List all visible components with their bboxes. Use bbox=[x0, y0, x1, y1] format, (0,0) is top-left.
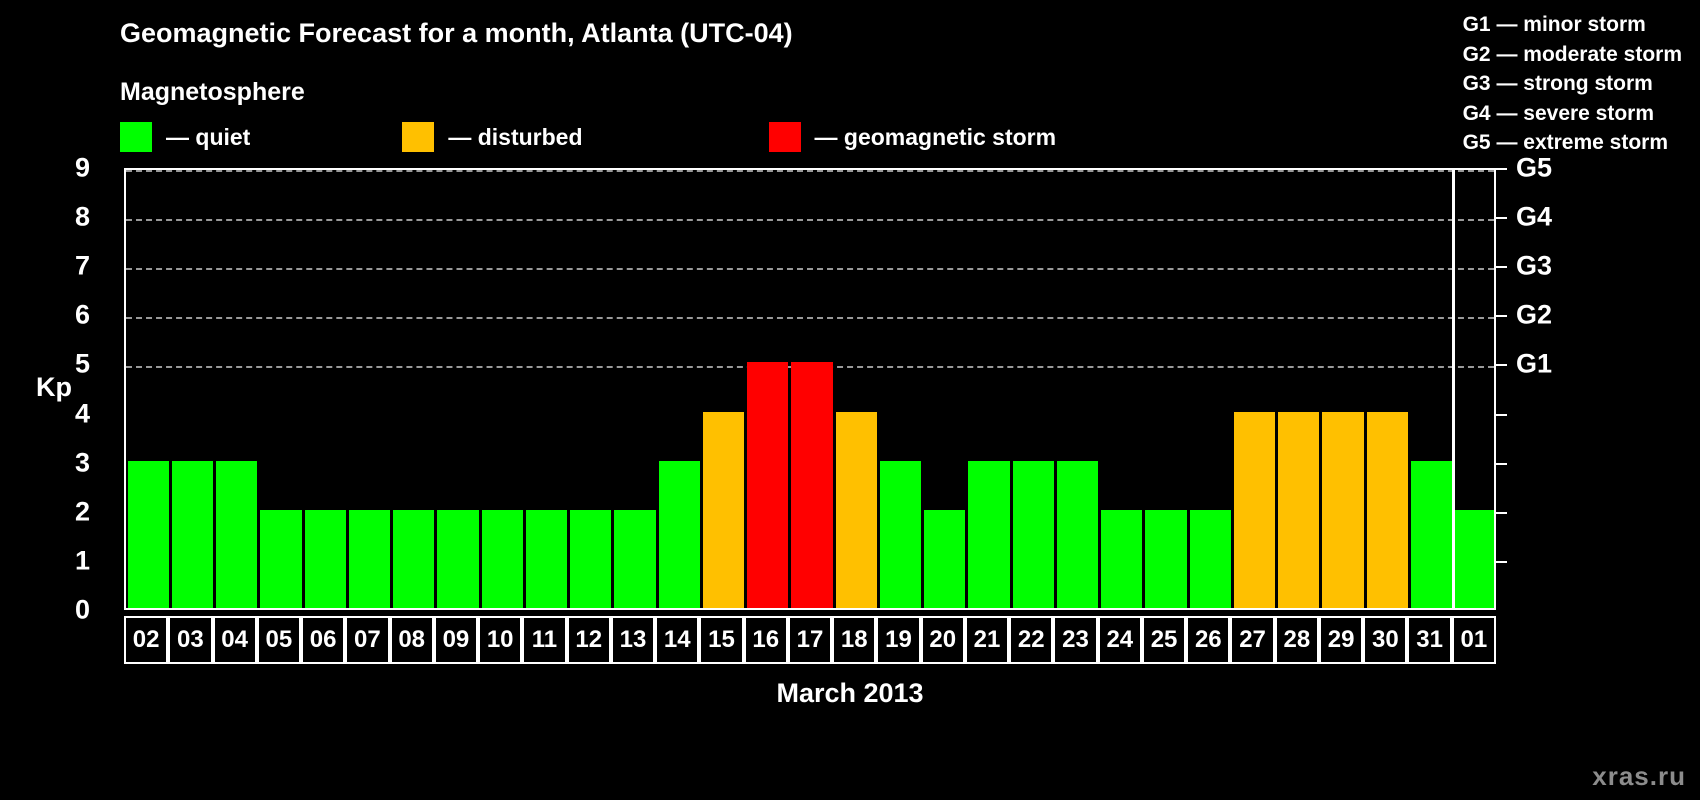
gscale-key-row: G2 — moderate storm bbox=[1463, 40, 1682, 70]
bar-24 bbox=[1101, 510, 1142, 608]
day-label-31: 31 bbox=[1407, 616, 1451, 664]
day-label-27: 27 bbox=[1230, 616, 1274, 664]
g-tick-mark bbox=[1496, 217, 1507, 219]
quiet-swatch bbox=[120, 122, 152, 152]
y-tick-label-0: 0 bbox=[50, 595, 90, 626]
g-tick-mark bbox=[1496, 266, 1507, 268]
page-title: Geomagnetic Forecast for a month, Atlant… bbox=[120, 18, 793, 49]
day-label-25: 25 bbox=[1142, 616, 1186, 664]
y-tick-label-1: 1 bbox=[50, 545, 90, 576]
y-tick-label-8: 8 bbox=[50, 202, 90, 233]
bar-08 bbox=[393, 510, 434, 608]
legend: — quiet— disturbed— geomagnetic storm bbox=[120, 122, 1056, 152]
g-tick-mark-minor bbox=[1496, 512, 1507, 514]
bar-16 bbox=[747, 362, 788, 608]
g-tick-label-G5: G5 bbox=[1516, 153, 1552, 184]
gscale-key: G1 — minor stormG2 — moderate stormG3 — … bbox=[1463, 10, 1682, 158]
y-tick-label-9: 9 bbox=[50, 153, 90, 184]
y-tick-label-6: 6 bbox=[50, 300, 90, 331]
watermark: xras.ru bbox=[1592, 761, 1686, 792]
day-label-22: 22 bbox=[1009, 616, 1053, 664]
gscale-key-row: G4 — severe storm bbox=[1463, 99, 1682, 129]
storm-swatch bbox=[769, 122, 801, 152]
bar-19 bbox=[880, 461, 921, 608]
day-label-26: 26 bbox=[1186, 616, 1230, 664]
day-label-10: 10 bbox=[478, 616, 522, 664]
g-tick-mark-minor bbox=[1496, 414, 1507, 416]
gscale-key-row: G3 — strong storm bbox=[1463, 69, 1682, 99]
legend-entry: — geomagnetic storm bbox=[769, 122, 1057, 152]
day-label-29: 29 bbox=[1319, 616, 1363, 664]
g-tick-mark-minor bbox=[1496, 561, 1507, 563]
bar-12 bbox=[570, 510, 611, 608]
legend-label: — quiet bbox=[166, 124, 250, 151]
bar-13 bbox=[614, 510, 655, 608]
bar-25 bbox=[1145, 510, 1186, 608]
bar-15 bbox=[703, 412, 744, 608]
y-tick-label-5: 5 bbox=[50, 349, 90, 380]
day-label-19: 19 bbox=[876, 616, 920, 664]
g-tick-mark bbox=[1496, 315, 1507, 317]
bar-05 bbox=[260, 510, 301, 608]
legend-entry: — quiet bbox=[120, 122, 250, 152]
day-label-21: 21 bbox=[965, 616, 1009, 664]
magnetosphere-heading: Magnetosphere bbox=[120, 78, 305, 107]
day-label-14: 14 bbox=[655, 616, 699, 664]
g-tick-label-G2: G2 bbox=[1516, 300, 1552, 331]
g-tick-mark bbox=[1496, 168, 1507, 170]
day-label-11: 11 bbox=[522, 616, 566, 664]
gscale-key-row: G5 — extreme storm bbox=[1463, 128, 1682, 158]
bar-22 bbox=[1013, 461, 1054, 608]
bars-layer bbox=[126, 170, 1494, 608]
bar-27 bbox=[1234, 412, 1275, 608]
bar-01 bbox=[1455, 510, 1496, 608]
day-label-17: 17 bbox=[788, 616, 832, 664]
bar-26 bbox=[1190, 510, 1231, 608]
bar-23 bbox=[1057, 461, 1098, 608]
bar-29 bbox=[1322, 412, 1363, 608]
day-label-23: 23 bbox=[1053, 616, 1097, 664]
day-label-20: 20 bbox=[921, 616, 965, 664]
day-label-05: 05 bbox=[257, 616, 301, 664]
gscale-key-row: G1 — minor storm bbox=[1463, 10, 1682, 40]
day-label-01: 01 bbox=[1452, 616, 1496, 664]
y-tick-label-3: 3 bbox=[50, 447, 90, 478]
bar-30 bbox=[1367, 412, 1408, 608]
bar-10 bbox=[482, 510, 523, 608]
bar-11 bbox=[526, 510, 567, 608]
day-label-28: 28 bbox=[1275, 616, 1319, 664]
day-label-09: 09 bbox=[434, 616, 478, 664]
legend-label: — disturbed bbox=[448, 124, 582, 151]
g-tick-mark bbox=[1496, 364, 1507, 366]
bar-04 bbox=[216, 461, 257, 608]
day-label-12: 12 bbox=[567, 616, 611, 664]
legend-entry: — disturbed bbox=[402, 122, 582, 152]
day-label-24: 24 bbox=[1098, 616, 1142, 664]
x-axis-day-labels: 0203040506070809101112131415161718192021… bbox=[124, 616, 1496, 664]
day-label-02: 02 bbox=[124, 616, 168, 664]
bar-18 bbox=[836, 412, 877, 608]
plot-area bbox=[124, 168, 1496, 610]
y-tick-label-2: 2 bbox=[50, 496, 90, 527]
bar-06 bbox=[305, 510, 346, 608]
day-label-06: 06 bbox=[301, 616, 345, 664]
day-label-30: 30 bbox=[1363, 616, 1407, 664]
bar-31 bbox=[1411, 461, 1452, 608]
day-label-03: 03 bbox=[168, 616, 212, 664]
day-label-15: 15 bbox=[699, 616, 743, 664]
bar-07 bbox=[349, 510, 390, 608]
bar-21 bbox=[968, 461, 1009, 608]
day-label-07: 07 bbox=[345, 616, 389, 664]
y-tick-label-4: 4 bbox=[50, 398, 90, 429]
legend-label: — geomagnetic storm bbox=[815, 124, 1057, 151]
y-tick-label-7: 7 bbox=[50, 251, 90, 282]
day-label-04: 04 bbox=[213, 616, 257, 664]
day-label-08: 08 bbox=[390, 616, 434, 664]
day-label-18: 18 bbox=[832, 616, 876, 664]
bar-14 bbox=[659, 461, 700, 608]
day-label-16: 16 bbox=[744, 616, 788, 664]
bar-17 bbox=[791, 362, 832, 608]
bar-02 bbox=[128, 461, 169, 608]
forecast-divider bbox=[1452, 170, 1455, 608]
g-tick-label-G1: G1 bbox=[1516, 349, 1552, 380]
bar-03 bbox=[172, 461, 213, 608]
g-tick-label-G3: G3 bbox=[1516, 251, 1552, 282]
disturbed-swatch bbox=[402, 122, 434, 152]
g-tick-mark-minor bbox=[1496, 463, 1507, 465]
bar-20 bbox=[924, 510, 965, 608]
day-label-13: 13 bbox=[611, 616, 655, 664]
g-tick-label-G4: G4 bbox=[1516, 202, 1552, 233]
bar-28 bbox=[1278, 412, 1319, 608]
x-axis-title: March 2013 bbox=[0, 678, 1700, 709]
bar-09 bbox=[437, 510, 478, 608]
